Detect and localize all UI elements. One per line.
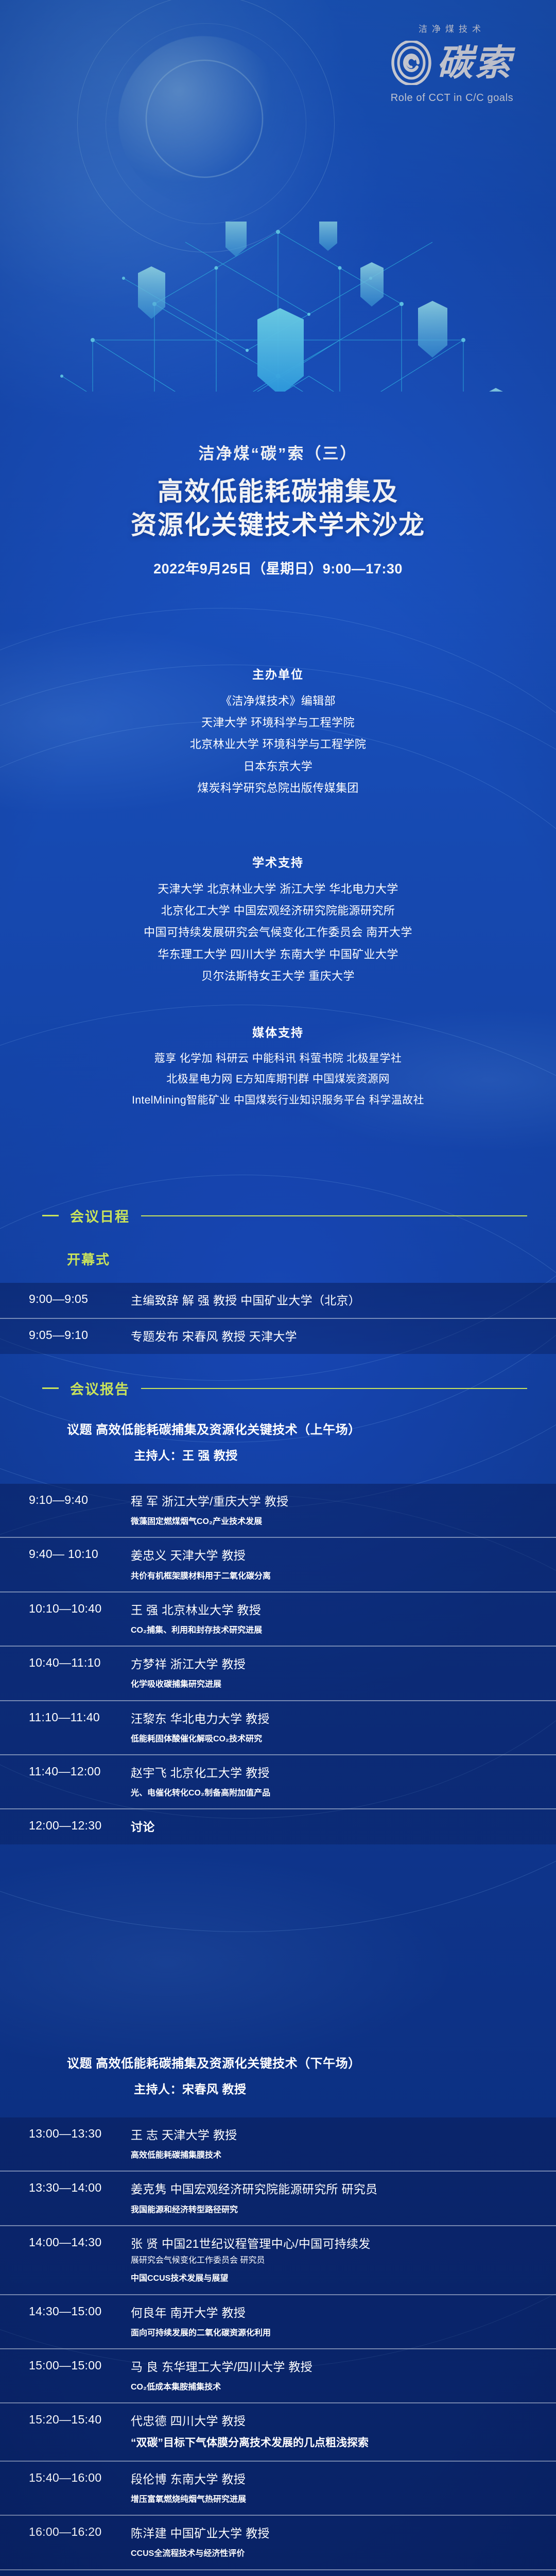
row-topic: 低能耗固体酸催化解吸CO₂技术研究	[29, 1733, 528, 1745]
media-support-heading: 媒体支持	[0, 1023, 556, 1040]
row-time: 15:00—15:00	[29, 2359, 131, 2372]
row-speaker: 专题发布 宋春风 教授 天津大学	[131, 1328, 528, 1345]
row-topic: “双碳”目标下气体膜分离技术发展的几点粗浅探索	[29, 2435, 528, 2451]
row-time: 10:40—11:10	[29, 1656, 131, 1670]
page-title-line-2: 资源化关键技术学术沙龙	[0, 509, 556, 542]
opening-ceremony-table: 9:00—9:05 主编致辞 解 强 教授 中国矿业大学（北京） 9:05—9:…	[0, 1283, 556, 1354]
table-row[interactable]: 16:20—16:40 吴春飞 贝尔法斯特女王大学 教授 二氧化碳捕集与转化集成…	[0, 2569, 556, 2576]
media-support-item: 北极星电力网 E方知库期刊群 中国煤炭资源网	[0, 1069, 556, 1090]
row-speaker: 王 志 天津大学 教授	[131, 2127, 528, 2143]
brand-logo-mark: 碳索	[375, 41, 529, 85]
row-speaker: 王 强 北京林业大学 教授	[131, 1602, 528, 1618]
series-subtitle: 洁净煤“碳”索（三）	[0, 440, 556, 464]
row-topic: 面向可持续发展的二氧化碳资源化利用	[29, 2327, 528, 2339]
organizers-block: 主办单位 《洁净煤技术》编辑部 天津大学 环境科学与工程学院 北京林业大学 环境…	[0, 665, 556, 799]
table-row[interactable]: 14:00—14:30 张 贤 中国21世纪议程管理中心/中国可持续发 展研究会…	[0, 2225, 556, 2294]
table-row[interactable]: 9:10—9:40 程 军 浙江大学/重庆大学 教授 微藻固定燃煤烟气CO₂产业…	[0, 1484, 556, 1537]
row-topic: 光、电催化转化CO₂制备高附加值产品	[29, 1787, 528, 1799]
event-datetime: 2022年9月25日（星期日）9:00—17:30	[0, 557, 556, 578]
table-row[interactable]: 15:20—15:40 代忠德 四川大学 教授 “双碳”目标下气体膜分离技术发展…	[0, 2402, 556, 2461]
row-speaker: 赵宇飞 北京化工大学 教授	[131, 1765, 528, 1781]
organizer-item: 日本东京大学	[0, 756, 556, 777]
agenda-section-title: 会议日程	[70, 1206, 130, 1226]
row-time: 11:40—12:00	[29, 1765, 131, 1778]
row-time: 12:00—12:30	[29, 1819, 131, 1833]
page-title: 高效低能耗碳捕集及 资源化关键技术学术沙龙	[0, 475, 556, 542]
row-speaker: 汪黎东 华北电力大学 教授	[131, 1710, 528, 1727]
row-time: 9:40— 10:10	[29, 1547, 131, 1561]
table-row[interactable]: 11:40—12:00 赵宇飞 北京化工大学 教授 光、电催化转化CO₂制备高附…	[0, 1754, 556, 1808]
table-row[interactable]: 14:30—15:00 何良年 南开大学 教授 面向可持续发展的二氧化碳资源化利…	[0, 2294, 556, 2348]
spiral-logo-icon	[391, 41, 431, 85]
table-row[interactable]: 13:30—14:00 姜克隽 中国宏观经济研究院能源研究所 研究员 我国能源和…	[0, 2171, 556, 2225]
organizers-heading: 主办单位	[0, 665, 556, 682]
row-topic: CO₂捕集、利用和封存技术研究进展	[29, 1624, 528, 1636]
table-row[interactable]: 15:40—16:00 段伦博 东南大学 教授 增压富氧燃烧纯烟气热研究进展	[0, 2461, 556, 2515]
media-support-block: 媒体支持 蔻享 化学加 科研云 中能科讯 科萤书院 北极星学社 北极星电力网 E…	[0, 1023, 556, 1111]
morning-session-topic-block: 议题 高效低能耗碳捕集及资源化关键技术（上午场） 主持人：王 强 教授	[0, 1419, 556, 1463]
opening-ceremony-header: 开幕式	[0, 1249, 556, 1268]
afternoon-session-table: 13:00—13:30 王 志 天津大学 教授 高效低能耗碳捕集膜技术 13:3…	[0, 2117, 556, 2576]
row-time: 15:40—16:00	[29, 2471, 131, 2485]
brand-name-en: Role of CCT in C/C goals	[375, 92, 529, 104]
hero-ring-inner	[106, 23, 306, 224]
brand-logo: 洁净煤技术 碳索 Role of CCT in C/C goals	[375, 22, 529, 104]
row-speaker: 何良年 南开大学 教授	[131, 2304, 528, 2321]
row-topic: CCUS全流程技术与经济性评价	[29, 2548, 528, 2560]
poster-title-block: 洁净煤“碳”索（三） 高效低能耗碳捕集及 资源化关键技术学术沙龙 2022年9月…	[0, 440, 556, 578]
row-topic: 共价有机框架膜材料用于二氧化碳分离	[29, 1570, 528, 1582]
organizer-item: 北京林业大学 环境科学与工程学院	[0, 734, 556, 755]
morning-session-table: 9:10—9:40 程 军 浙江大学/重庆大学 教授 微藻固定燃煤烟气CO₂产业…	[0, 1484, 556, 1844]
brand-name-cn: 碳索	[437, 45, 513, 81]
section-dash-decoration	[42, 1215, 59, 1216]
organizer-item: 煤炭科学研究总院出版传媒集团	[0, 777, 556, 799]
hero-banner: 洁净煤技术 碳索 Role of CCT in C/C goals	[0, 0, 556, 392]
reports-section-header: 会议报告	[0, 1378, 556, 1398]
table-row[interactable]: 9:05—9:10 专题发布 宋春风 教授 天津大学	[0, 1318, 556, 1354]
row-speaker: 姜克隽 中国宏观经济研究院能源研究所 研究员	[131, 2181, 528, 2197]
row-time: 13:00—13:30	[29, 2127, 131, 2141]
media-support-item: 蔻享 化学加 科研云 中能科讯 科萤书院 北极星学社	[0, 1048, 556, 1069]
row-topic: CO₂低成本集胺捕集技术	[29, 2381, 528, 2393]
row-time: 11:10—11:40	[29, 1710, 131, 1724]
table-row[interactable]: 13:00—13:30 王 志 天津大学 教授 高效低能耗碳捕集膜技术	[0, 2117, 556, 2171]
row-speaker: 段伦博 东南大学 教授	[131, 2471, 528, 2487]
row-time: 9:10—9:40	[29, 1493, 131, 1507]
academic-support-item: 中国可持续发展研究会气候变化工作委员会 南开大学	[0, 922, 556, 943]
session-host: 主持人：王 强 教授	[29, 1446, 527, 1463]
table-row[interactable]: 12:00—12:30 讨论	[0, 1808, 556, 1844]
table-row[interactable]: 15:00—15:00 马 良 东华理工大学/四川大学 教授 CO₂低成本集胺捕…	[0, 2348, 556, 2402]
row-speaker: 代忠德 四川大学 教授	[131, 2413, 528, 2429]
section-dash-decoration	[42, 1387, 59, 1389]
session-topic: 议题 高效低能耗碳捕集及资源化关键技术（下午场）	[29, 2053, 527, 2071]
organizer-item: 天津大学 环境科学与工程学院	[0, 712, 556, 734]
row-time: 15:20—15:40	[29, 2413, 131, 2427]
brand-tagline: 洁净煤技术	[375, 22, 529, 35]
table-row[interactable]: 16:00—16:20 陈洋建 中国矿业大学 教授 CCUS全流程技术与经济性评…	[0, 2515, 556, 2569]
page-title-line-1: 高效低能耗碳捕集及	[0, 475, 556, 509]
academic-support-item: 华东理工大学 四川大学 东南大学 中国矿业大学	[0, 944, 556, 965]
row-time: 16:00—16:20	[29, 2525, 131, 2539]
row-speaker-cont: 展研究会气候变化工作委员会 研究员	[29, 2255, 528, 2266]
row-speaker: 方梦祥 浙江大学 教授	[131, 1656, 528, 1672]
row-time: 9:05—9:10	[29, 1328, 131, 1342]
row-time: 14:30—15:00	[29, 2304, 131, 2318]
academic-support-block: 学术支持 天津大学 北京林业大学 浙江大学 华北电力大学 北京化工大学 中国宏观…	[0, 853, 556, 987]
row-speaker: 张 贤 中国21世纪议程管理中心/中国可持续发	[131, 2235, 528, 2252]
row-time: 9:00—9:05	[29, 1292, 131, 1306]
row-topic: 我国能源和经济转型路径研究	[29, 2204, 528, 2216]
row-topic: 中国CCUS技术发展与展望	[29, 2273, 528, 2284]
opening-ceremony-title: 开幕式	[0, 1249, 556, 1268]
row-speaker: 陈洋建 中国矿业大学 教授	[131, 2525, 528, 2541]
section-rule-decoration	[141, 1388, 527, 1389]
row-topic: 化学吸收碳捕集研究进展	[29, 1679, 528, 1690]
academic-support-item: 天津大学 北京林业大学 浙江大学 华北电力大学	[0, 878, 556, 900]
row-speaker: 程 军 浙江大学/重庆大学 教授	[131, 1493, 528, 1510]
afternoon-session-topic-block: 议题 高效低能耗碳捕集及资源化关键技术（下午场） 主持人：宋春风 教授	[0, 2053, 556, 2097]
session-topic: 议题 高效低能耗碳捕集及资源化关键技术（上午场）	[29, 1419, 527, 1437]
section-rule-decoration	[141, 1215, 527, 1216]
row-topic: 微藻固定燃煤烟气CO₂产业技术发展	[29, 1516, 528, 1528]
table-row[interactable]: 10:40—11:10 方梦祥 浙江大学 教授 化学吸收碳捕集研究进展	[0, 1646, 556, 1700]
table-row[interactable]: 9:40— 10:10 姜忠义 天津大学 教授 共价有机框架膜材料用于二氧化碳分…	[0, 1537, 556, 1591]
row-speaker: 讨论	[131, 1819, 528, 1835]
academic-support-item: 贝尔法斯特女王大学 重庆大学	[0, 965, 556, 987]
row-speaker: 马 良 东华理工大学/四川大学 教授	[131, 2359, 528, 2375]
row-speaker: 主编致辞 解 强 教授 中国矿业大学（北京）	[131, 1292, 528, 1309]
table-row[interactable]: 11:10—11:40 汪黎东 华北电力大学 教授 低能耗固体酸催化解吸CO₂技…	[0, 1700, 556, 1754]
agenda-section-header: 会议日程	[0, 1206, 556, 1226]
row-time: 10:10—10:40	[29, 1602, 131, 1616]
row-topic: 高效低能耗碳捕集膜技术	[29, 2149, 528, 2161]
table-row[interactable]: 9:00—9:05 主编致辞 解 强 教授 中国矿业大学（北京）	[0, 1283, 556, 1318]
row-topic: 增压富氧燃烧纯烟气热研究进展	[29, 2494, 528, 2505]
organizer-item: 《洁净煤技术》编辑部	[0, 690, 556, 712]
table-row[interactable]: 10:10—10:40 王 强 北京林业大学 教授 CO₂捕集、利用和封存技术研…	[0, 1591, 556, 1646]
row-time: 13:30—14:00	[29, 2181, 131, 2195]
academic-support-heading: 学术支持	[0, 853, 556, 870]
session-host: 主持人：宋春风 教授	[29, 2079, 527, 2097]
media-support-item: IntelMining智能矿业 中国煤炭行业知识服务平台 科学温故社	[0, 1090, 556, 1111]
row-time: 14:00—14:30	[29, 2235, 131, 2249]
academic-support-item: 北京化工大学 中国宏观经济研究院能源研究所	[0, 900, 556, 922]
row-speaker: 姜忠义 天津大学 教授	[131, 1547, 528, 1564]
reports-section-title: 会议报告	[70, 1378, 130, 1398]
crystal-network-graphic	[0, 222, 556, 392]
